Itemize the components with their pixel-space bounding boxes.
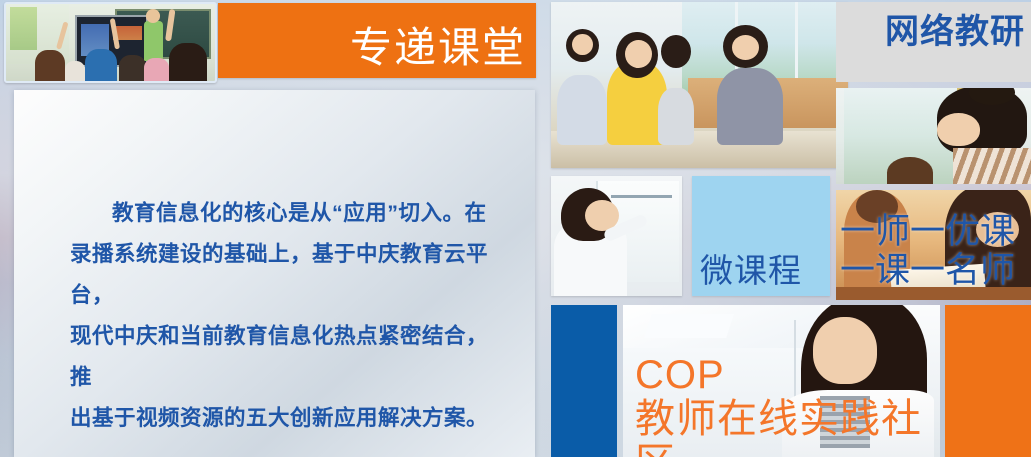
photo-whiteboard-line (611, 195, 671, 198)
photo-window (10, 7, 37, 50)
photo-student-figure (557, 75, 607, 145)
card-cop-line-2: 教师在线实践社区 (635, 397, 940, 457)
photo-student-figure (119, 55, 146, 81)
body-text-card: 教育信息化的核心是从“应用”切入。在 录播系统建设的基础上，基于中庆教育云平台，… (14, 90, 535, 457)
photo-teacher-shirt (953, 148, 1031, 184)
teacher-helping-photo (836, 88, 1031, 184)
body-text-line-1: 教育信息化的核心是从“应用”切入。在 (70, 193, 509, 234)
photo-teacher-figure (144, 21, 163, 61)
photo-student-head (661, 35, 691, 68)
orange-accent-band (945, 305, 1031, 457)
students-reading-photo: 一师一优课 一课一名师 (836, 190, 1031, 300)
body-text-line-3: 现代中庆和当前教育信息化热点紧密结合，推 (70, 316, 509, 398)
card-micro-course[interactable]: 微课程 (692, 176, 830, 296)
photo-teacher-face (937, 113, 980, 146)
photo-student-figure (35, 50, 64, 81)
card-network-research-label: 网络教研 (885, 4, 1025, 53)
body-text-line-4: 出基于视频资源的五大创新应用解决方案。 (70, 398, 509, 439)
card-micro-course-label: 微课程 (700, 244, 802, 292)
body-text-block: 教育信息化的核心是从“应用”切入。在 录播系统建设的基础上，基于中庆教育云平台，… (70, 193, 509, 439)
card-excellent-class-line-1: 一师一优课 (840, 212, 1015, 251)
card-cop-line-1: COP (635, 353, 940, 397)
card-network-research[interactable]: 网络教研 (836, 2, 1031, 82)
card-excellent-class-text: 一师一优课 一课一名师 (840, 212, 1015, 290)
card-excellent-class-line-2: 一课一名师 (840, 251, 1015, 290)
title-banner-label: 专递课堂 (350, 16, 526, 80)
photo-student-figure (144, 58, 169, 81)
slide-canvas: 专递课堂 教育信息化的核心是从“应用”切入。在 录播系统建设的基础上，基于中庆教… (0, 0, 1031, 457)
photo-student-figure (658, 88, 694, 144)
card-cop-text: COP 教师在线实践社区 (635, 353, 940, 457)
students-listening-photo (551, 2, 848, 168)
photo-student-figure (717, 68, 782, 144)
blue-accent-band (551, 305, 617, 457)
photo-student-face (572, 34, 593, 56)
classroom-hands-up-photo (4, 2, 217, 83)
photo-student-face (732, 35, 759, 60)
body-text-line-2: 录播系统建设的基础上，基于中庆教育云平台， (70, 234, 509, 316)
title-banner: 专递课堂 (218, 3, 536, 78)
photo-ceiling-panel (644, 314, 734, 338)
photo-student-figure (65, 61, 86, 81)
woman-presenting-photo: COP 教师在线实践社区 (623, 305, 940, 457)
photo-student-figure (85, 49, 116, 81)
photo-student-head (887, 157, 934, 184)
photo-student-figure (169, 43, 207, 82)
teacher-whiteboard-photo (551, 176, 682, 296)
